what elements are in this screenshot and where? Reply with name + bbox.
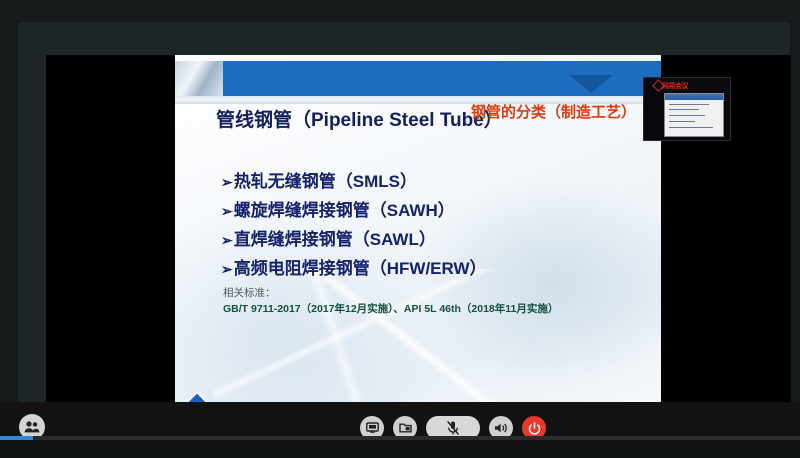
playback-progress-track[interactable] (0, 436, 800, 440)
list-item: ➢ 螺旋焊缝焊接钢管（SAWH） (221, 196, 641, 221)
list-item-label: 直焊缝焊接钢管（SAWL） (234, 225, 436, 250)
list-item: ➢ 直焊缝焊接钢管（SAWL） (221, 225, 641, 250)
slide-header-banner (175, 61, 661, 96)
slide-bullet-list: ➢ 热轧无缝钢管（SMLS） ➢ 螺旋焊缝焊接钢管（SAWH） ➢ 直焊缝焊接钢… (221, 167, 641, 283)
window-bottom-edge (0, 450, 800, 458)
pip-logo-text: 网易会议 (662, 81, 688, 91)
slide-title: 管线钢管（Pipeline Steel Tube） (216, 105, 503, 132)
pip-text-line (669, 121, 695, 122)
video-window-frame: 管线钢管（Pipeline Steel Tube） 钢管的分类（制造工艺） ➢ … (18, 22, 790, 446)
presentation-slide: 管线钢管（Pipeline Steel Tube） 钢管的分类（制造工艺） ➢ … (175, 55, 661, 424)
standards-label: 相关标准： (223, 286, 623, 301)
bullet-arrow-icon: ➢ (221, 203, 233, 220)
slide-overlay-title: 钢管的分类（制造工艺） (471, 101, 636, 122)
list-item-label: 热轧无缝钢管（SMLS） (234, 167, 417, 192)
video-stage[interactable]: 管线钢管（Pipeline Steel Tube） 钢管的分类（制造工艺） ➢ … (46, 55, 791, 424)
pip-text-line (669, 115, 705, 116)
monitor-icon (366, 422, 379, 434)
banner-triangle-decoration (569, 75, 613, 93)
list-item-label: 螺旋焊缝焊接钢管（SAWH） (234, 196, 455, 221)
pip-window-titlebar (665, 94, 723, 100)
bullet-arrow-icon: ➢ (221, 232, 233, 249)
banner-photo-strip (175, 61, 223, 96)
bullet-arrow-icon: ➢ (221, 261, 233, 278)
folder-icon (399, 422, 412, 434)
list-item: ➢ 热轧无缝钢管（SMLS） (221, 167, 641, 192)
pip-text-line (669, 127, 713, 128)
list-item: ➢ 高频电阻焊接钢管（HFW/ERW） (221, 254, 641, 279)
speaker-icon (494, 422, 508, 434)
microphone-muted-icon (446, 420, 460, 436)
list-item-label: 高频电阻焊接钢管（HFW/ERW） (234, 254, 487, 279)
playback-progress-fill (0, 436, 33, 440)
picture-in-picture-thumbnail[interactable]: 网易会议 (643, 77, 731, 141)
power-icon (528, 422, 541, 435)
slide-standards-note: 相关标准： GB/T 9711-2017（2017年12月实施）、API 5L … (223, 286, 623, 317)
bullet-arrow-icon: ➢ (221, 174, 233, 191)
pip-text-line (669, 104, 709, 105)
pip-text-line (669, 109, 699, 110)
participants-icon (24, 420, 40, 434)
screen-share-viewer: 管线钢管（Pipeline Steel Tube） 钢管的分类（制造工艺） ➢ … (0, 0, 800, 458)
pip-sidebar (644, 86, 664, 140)
standards-body: GB/T 9711-2017（2017年12月实施）、API 5L 46th（2… (223, 303, 558, 315)
pip-inner-window (664, 93, 724, 137)
